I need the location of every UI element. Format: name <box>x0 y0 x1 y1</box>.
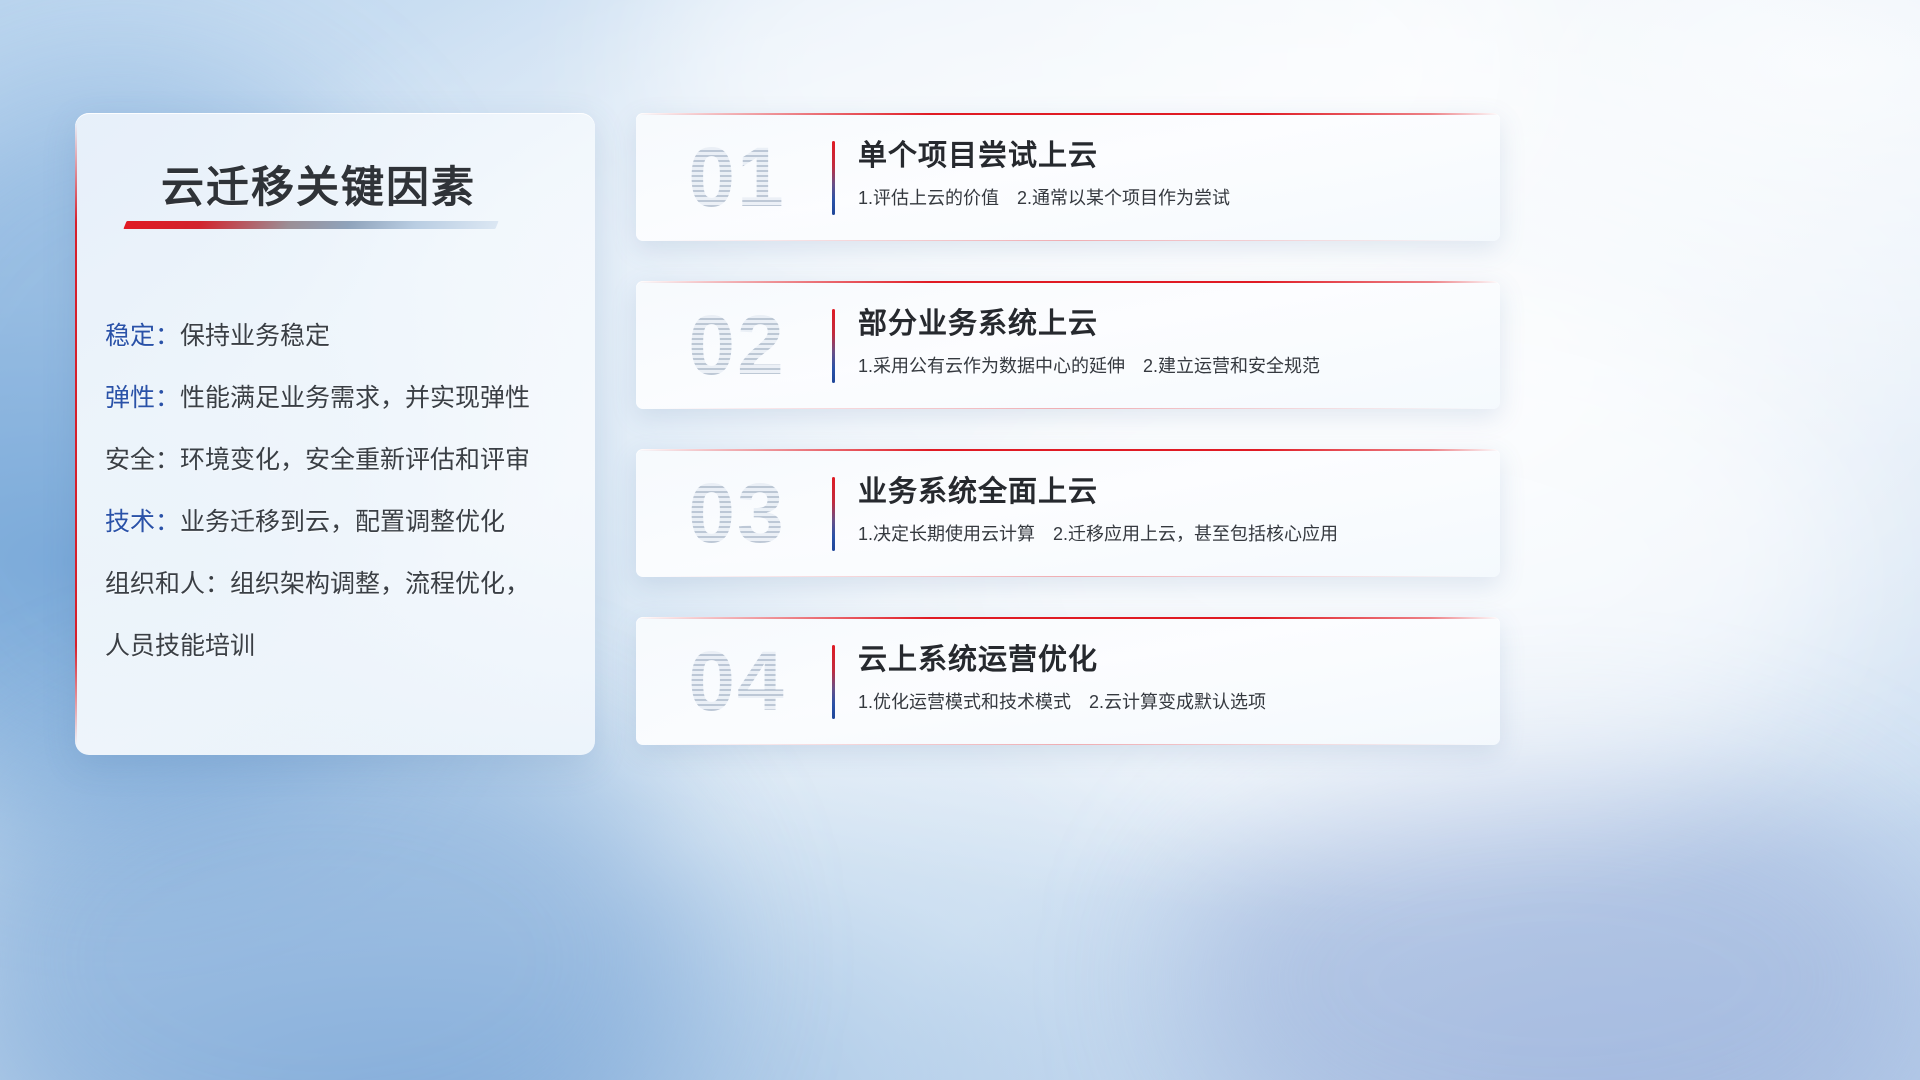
key-factors-panel: 云迁移关键因素 稳定：保持业务稳定弹性：性能满足业务需求，并实现弹性安全：环境变… <box>75 113 595 755</box>
factor-value: 保持业务稳定 <box>180 322 330 350</box>
factor-value: 环境变化，安全重新评估和评审 <box>180 446 530 474</box>
factor-item: 安全：环境变化，安全重新评估和评审 <box>105 429 575 491</box>
stage-card[interactable]: 0202部分业务系统上云1.采用公有云作为数据中心的延伸 2.建立运营和安全规范 <box>636 281 1500 409</box>
stage-number: 02 <box>662 293 812 397</box>
factor-label: 稳定： <box>105 322 180 350</box>
stage-text-block: 单个项目尝试上云1.评估上云的价值 2.通常以某个项目作为尝试 <box>858 135 1476 214</box>
background-glow-bottom-right <box>1180 760 1920 1080</box>
stage-description: 1.评估上云的价值 2.通常以某个项目作为尝试 <box>858 182 1476 214</box>
stage-card[interactable]: 0101单个项目尝试上云1.评估上云的价值 2.通常以某个项目作为尝试 <box>636 113 1500 241</box>
factor-label: 安全： <box>105 446 180 474</box>
factor-label: 技术： <box>105 508 180 536</box>
stage-text-block: 业务系统全面上云1.决定长期使用云计算 2.迁移应用上云，甚至包括核心应用 <box>858 471 1476 550</box>
stage-card[interactable]: 0404云上系统运营优化1.优化运营模式和技术模式 2.云计算变成默认选项 <box>636 617 1500 745</box>
stage-description: 1.采用公有云作为数据中心的延伸 2.建立运营和安全规范 <box>858 350 1476 382</box>
stage-number: 03 <box>662 461 812 565</box>
factor-value: 人员技能培训 <box>105 632 255 660</box>
factor-label: 组织和人： <box>105 570 230 598</box>
stage-title: 云上系统运营优化 <box>858 639 1476 681</box>
stage-divider-bar <box>832 645 835 719</box>
stage-card[interactable]: 0303业务系统全面上云1.决定长期使用云计算 2.迁移应用上云，甚至包括核心应… <box>636 449 1500 577</box>
stage-divider-bar <box>832 477 835 551</box>
factor-item: 稳定：保持业务稳定 <box>105 305 575 367</box>
background-glow-bottom-left <box>0 700 700 1080</box>
slide-canvas: 云迁移关键因素 稳定：保持业务稳定弹性：性能满足业务需求，并实现弹性安全：环境变… <box>0 0 1920 1080</box>
title-underline-accent <box>123 221 498 229</box>
stage-card-list: 0101单个项目尝试上云1.评估上云的价值 2.通常以某个项目作为尝试0202部… <box>636 113 1500 785</box>
stage-text-block: 云上系统运营优化1.优化运营模式和技术模式 2.云计算变成默认选项 <box>858 639 1476 718</box>
stage-number: 04 <box>662 629 812 733</box>
stage-title: 单个项目尝试上云 <box>858 135 1476 177</box>
stage-title: 部分业务系统上云 <box>858 303 1476 345</box>
factor-value: 组织架构调整，流程优化， <box>230 570 530 598</box>
stage-text-block: 部分业务系统上云1.采用公有云作为数据中心的延伸 2.建立运营和安全规范 <box>858 303 1476 382</box>
factor-item: 组织和人：组织架构调整，流程优化， <box>105 553 575 615</box>
stage-title: 业务系统全面上云 <box>858 471 1476 513</box>
factor-item: 弹性：性能满足业务需求，并实现弹性 <box>105 367 575 429</box>
factor-item: 人员技能培训 <box>105 615 575 677</box>
factor-label: 弹性： <box>105 384 180 412</box>
stage-divider-bar <box>832 309 835 383</box>
factor-value: 性能满足业务需求，并实现弹性 <box>180 384 530 412</box>
factor-value: 业务迁移到云，配置调整优化 <box>180 508 505 536</box>
stage-description: 1.决定长期使用云计算 2.迁移应用上云，甚至包括核心应用 <box>858 518 1476 550</box>
stage-divider-bar <box>832 141 835 215</box>
stage-number: 01 <box>662 125 812 229</box>
stage-description: 1.优化运营模式和技术模式 2.云计算变成默认选项 <box>858 686 1476 718</box>
page-title: 云迁移关键因素 <box>161 153 476 215</box>
factor-item: 技术：业务迁移到云，配置调整优化 <box>105 491 575 553</box>
factor-list: 稳定：保持业务稳定弹性：性能满足业务需求，并实现弹性安全：环境变化，安全重新评估… <box>105 305 575 677</box>
